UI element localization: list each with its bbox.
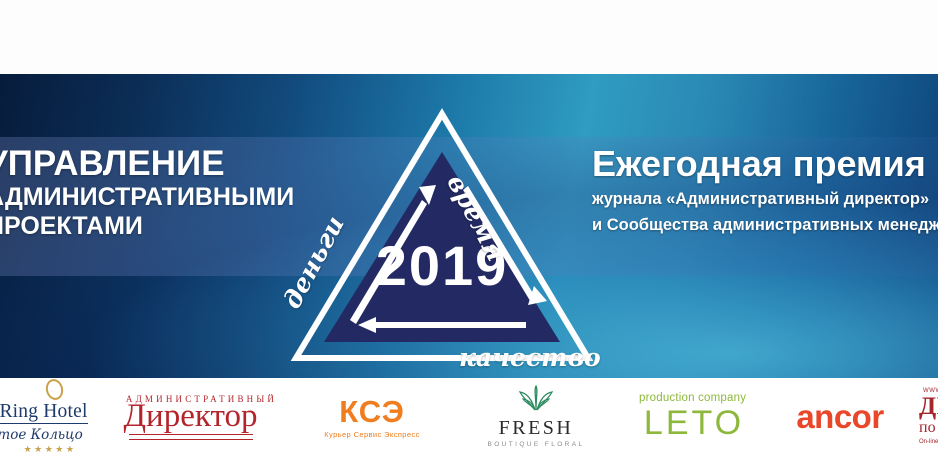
logo-kse-big: КСЭ: [339, 395, 405, 428]
logo-zakupki-sub: On-line журнал «Д: [919, 439, 938, 445]
headline-right-line2: журнала «Административный директор»: [592, 186, 938, 212]
logo-director-po-zakupkam[interactable]: WWW.2DIRECTOR. ДИРЕ по зак On-line журна…: [919, 378, 938, 455]
logo-zakupki-mid: по зак: [919, 419, 938, 437]
logo-zakupki-big: ДИРЕ: [919, 394, 938, 419]
triangle-label-quality: качество: [459, 343, 601, 372]
project-triangle-graphic: 2019 время деньги качество: [272, 86, 612, 376]
event-banner: УПРАВЛЕНИЕ АДМИНИСТРАТИВНЫМИ ПРОЕКТАМИ: [0, 74, 938, 378]
headline-left-line1: УПРАВЛЕНИЕ: [0, 145, 316, 183]
logo-ancor[interactable]: ancor: [785, 378, 895, 455]
headline-left-line2: АДМИНИСТРАТИВНЫМИ: [0, 183, 316, 212]
logo-ancor-big: ancor: [796, 400, 883, 434]
logo-leto-big: LETO: [644, 405, 744, 441]
logo-fresh-big: FRESH: [499, 418, 574, 439]
logo-golden-ring-rus: отое Кольцо: [0, 427, 83, 443]
logo-kse[interactable]: КСЭ Курьер Сервис Экспресс: [307, 378, 437, 455]
logo-director-big: Директор: [124, 398, 258, 434]
headline-right-line1: Ежегодная премия: [592, 142, 938, 186]
logo-administrativny-director[interactable]: АДМИНИСТРАТИВНЫЙ Директор: [118, 378, 263, 455]
headline-left-line3: ПРОЕКТАМИ: [0, 212, 316, 241]
leaf-icon: [516, 385, 556, 416]
banner-page: УПРАВЛЕНИЕ АДМИНИСТРАТИВНЫМИ ПРОЕКТАМИ: [0, 0, 938, 455]
logo-leto[interactable]: production company LETO: [633, 378, 755, 455]
logo-director-rule: [129, 434, 253, 440]
ring-icon: [43, 377, 65, 401]
headline-right-line3: и Сообщества административных менеджеров: [592, 212, 938, 238]
logo-golden-ring-hotel[interactable]: n Ring Hotel отое Кольцо ★★★★★: [0, 378, 98, 455]
headline-right: Ежегодная премия журнала «Административн…: [592, 142, 938, 238]
top-white-strip: [0, 0, 938, 74]
sponsor-logo-bar: n Ring Hotel отое Кольцо ★★★★★ АДМИНИСТР…: [0, 378, 938, 455]
logo-fresh[interactable]: FRESH BOUTIQUE FLORAL: [475, 378, 597, 455]
headline-left: УПРАВЛЕНИЕ АДМИНИСТРАТИВНЫМИ ПРОЕКТАМИ: [0, 145, 316, 241]
logo-fresh-sub: BOUTIQUE FLORAL: [487, 441, 584, 448]
logo-kse-sub: Курьер Сервис Экспресс: [324, 430, 420, 439]
five-stars-icon: ★★★★★: [24, 444, 77, 455]
logo-golden-ring-name: n Ring Hotel: [0, 401, 88, 424]
